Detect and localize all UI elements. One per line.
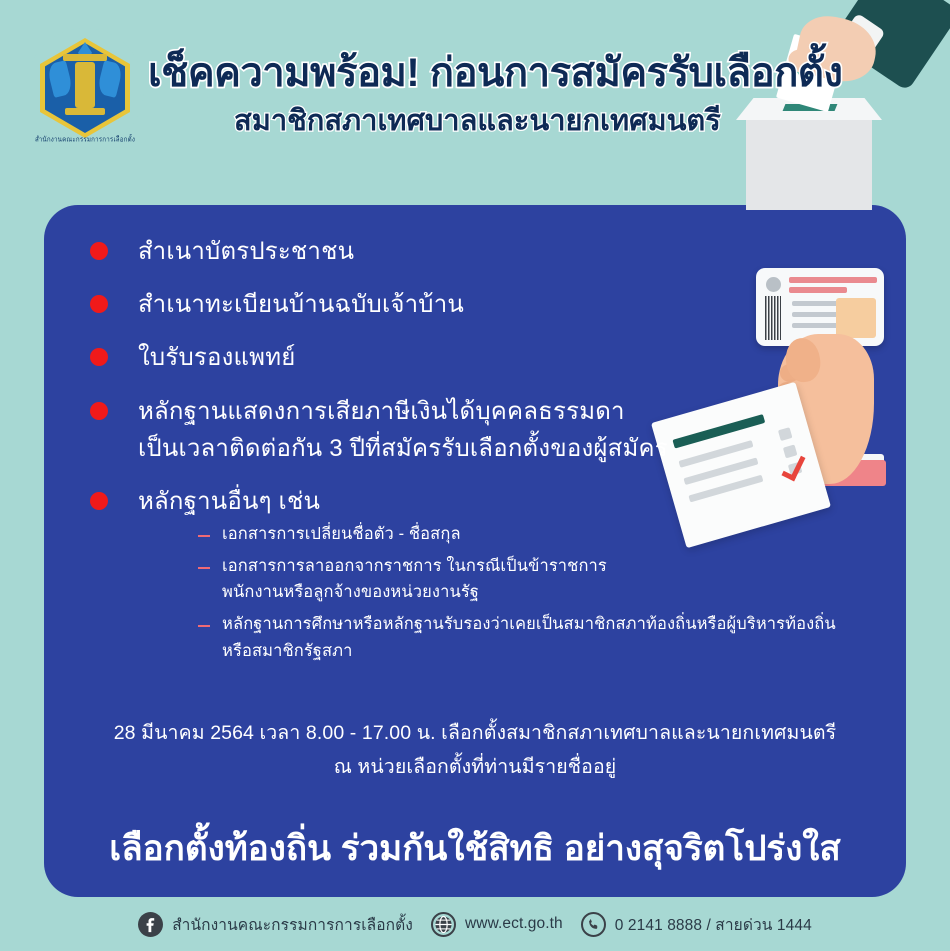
dash-bullet-icon xyxy=(198,535,210,537)
checklist-item-label-line2: เป็นเวลาติดต่อกัน 3 ปีที่สมัครรับเลือกตั… xyxy=(138,430,668,467)
footer-website[interactable]: www.ect.go.th xyxy=(431,912,563,937)
phone-icon[interactable] xyxy=(581,912,606,937)
bullet-dot-icon xyxy=(90,348,108,366)
id-avatar-icon xyxy=(766,277,781,292)
sub-list-item: เอกสารการเปลี่ยนชื่อตัว - ชื่อสกุล xyxy=(198,521,898,548)
id-header-bar-2 xyxy=(789,287,847,293)
phone-label: 0 2141 8888 / สายด่วน 1444 xyxy=(615,912,812,937)
logo-pillar-icon xyxy=(75,62,95,108)
poster-root: สำนักงานคณะกรรมการการเลือกตั้ง เช็คความพ… xyxy=(0,0,950,951)
notice-block: 28 มีนาคม 2564 เวลา 8.00 - 17.00 น. เลือ… xyxy=(44,717,906,784)
sub-item-label: เอกสารการเปลี่ยนชื่อตัว - ชื่อสกุล xyxy=(222,521,461,548)
facebook-icon[interactable] xyxy=(138,912,163,937)
election-place-line: ณ หน่วยเลือกตั้งที่ท่านมีรายชื่ออยู่ xyxy=(44,751,906,785)
checklist: สำเนาบัตรประชาชน สำเนาทะเบียนบ้านฉบับเจ้… xyxy=(90,233,730,536)
id-header-bar xyxy=(789,277,877,283)
bullet-dot-icon xyxy=(90,295,108,313)
footer: สำนักงานคณะกรรมการการเลือกตั้ง www.ect.g… xyxy=(0,897,950,951)
list-item: หลักฐานอื่นๆ เช่น xyxy=(90,483,730,520)
election-date-line: 28 มีนาคม 2564 เวลา 8.00 - 17.00 น. เลือ… xyxy=(44,717,906,751)
checklist-item-label: สำเนาทะเบียนบ้านฉบับเจ้าบ้าน xyxy=(138,286,464,323)
title-block: เช็คความพร้อม! ก่อนการสมัครรับเลือกตั้ง … xyxy=(148,52,848,138)
list-item: สำเนาทะเบียนบ้านฉบับเจ้าบ้าน xyxy=(90,286,730,323)
logo-caption: สำนักงานคณะกรรมการการเลือกตั้ง xyxy=(26,133,144,145)
sub-item-label: เอกสารการลาออกจากราชการ ในกรณีเป็นข้าราช… xyxy=(222,557,607,575)
sub-item-wrapper: หลักฐานการศึกษาหรือหลักฐานรับรองว่าเคยเป… xyxy=(222,611,836,664)
list-item: หลักฐานแสดงการเสียภาษีเงินได้บุคคลธรรมดา… xyxy=(90,393,730,467)
barcode-icon xyxy=(765,296,781,340)
list-item: สำเนาบัตรประชาชน xyxy=(90,233,730,270)
sub-item-label: หลักฐานการศึกษาหรือหลักฐานรับรองว่าเคยเป… xyxy=(222,615,836,633)
bullet-dot-icon xyxy=(90,402,108,420)
bullet-dot-icon xyxy=(90,492,108,510)
sub-list-item: หลักฐานการศึกษาหรือหลักฐานรับรองว่าเคยเป… xyxy=(198,611,898,664)
website-label: www.ect.go.th xyxy=(465,915,563,933)
checklist-item-label: หลักฐานอื่นๆ เช่น xyxy=(138,483,320,520)
document-checkbox-1 xyxy=(778,427,793,441)
list-item: ใบรับรองแพทย์ xyxy=(90,339,730,376)
id-photo xyxy=(836,298,876,338)
sub-item-label-line2: พนักงานหรือลูกจ้างของหน่วยงานรัฐ xyxy=(222,579,607,606)
checklist-item-label: ใบรับรองแพทย์ xyxy=(138,339,295,376)
sub-list-item: เอกสารการลาออกจากราชการ ในกรณีเป็นข้าราช… xyxy=(198,553,898,606)
globe-icon[interactable] xyxy=(431,912,456,937)
dash-bullet-icon xyxy=(198,625,210,627)
header: สำนักงานคณะกรรมการการเลือกตั้ง เช็คความพ… xyxy=(0,0,950,205)
slogan: เลือกตั้งท้องถิ่น ร่วมกันใช้สิทธิ อย่างส… xyxy=(44,821,906,876)
checklist-item-label: หลักฐานแสดงการเสียภาษีเงินได้บุคคลธรรมดา xyxy=(138,398,625,425)
footer-phone[interactable]: 0 2141 8888 / สายด่วน 1444 xyxy=(581,912,812,937)
checklist-item-label: สำเนาบัตรประชาชน xyxy=(138,233,354,270)
id-line-2 xyxy=(792,312,838,317)
bullet-dot-icon xyxy=(90,242,108,260)
checklist-item-wrapper: หลักฐานแสดงการเสียภาษีเงินได้บุคคลธรรมดา… xyxy=(138,393,668,467)
sub-item-label-line2: หรือสมาชิกรัฐสภา xyxy=(222,638,836,665)
ect-logo: สำนักงานคณะกรรมการการเลือกตั้ง xyxy=(26,28,144,150)
sub-item-wrapper: เอกสารการลาออกจากราชการ ในกรณีเป็นข้าราช… xyxy=(222,553,607,606)
page-title: เช็คความพร้อม! ก่อนการสมัครรับเลือกตั้ง xyxy=(148,52,848,94)
content-panel: สำเนาบัตรประชาชน สำเนาทะเบียนบ้านฉบับเจ้… xyxy=(44,205,906,897)
page-subtitle: สมาชิกสภาเทศบาลและนายกเทศมนตรี xyxy=(234,106,848,138)
dash-bullet-icon xyxy=(198,567,210,569)
sub-checklist: เอกสารการเปลี่ยนชื่อตัว - ชื่อสกุล เอกสา… xyxy=(198,521,898,670)
footer-facebook[interactable]: สำนักงานคณะกรรมการการเลือกตั้ง xyxy=(138,912,413,937)
facebook-label: สำนักงานคณะกรรมการการเลือกตั้ง xyxy=(172,912,413,937)
